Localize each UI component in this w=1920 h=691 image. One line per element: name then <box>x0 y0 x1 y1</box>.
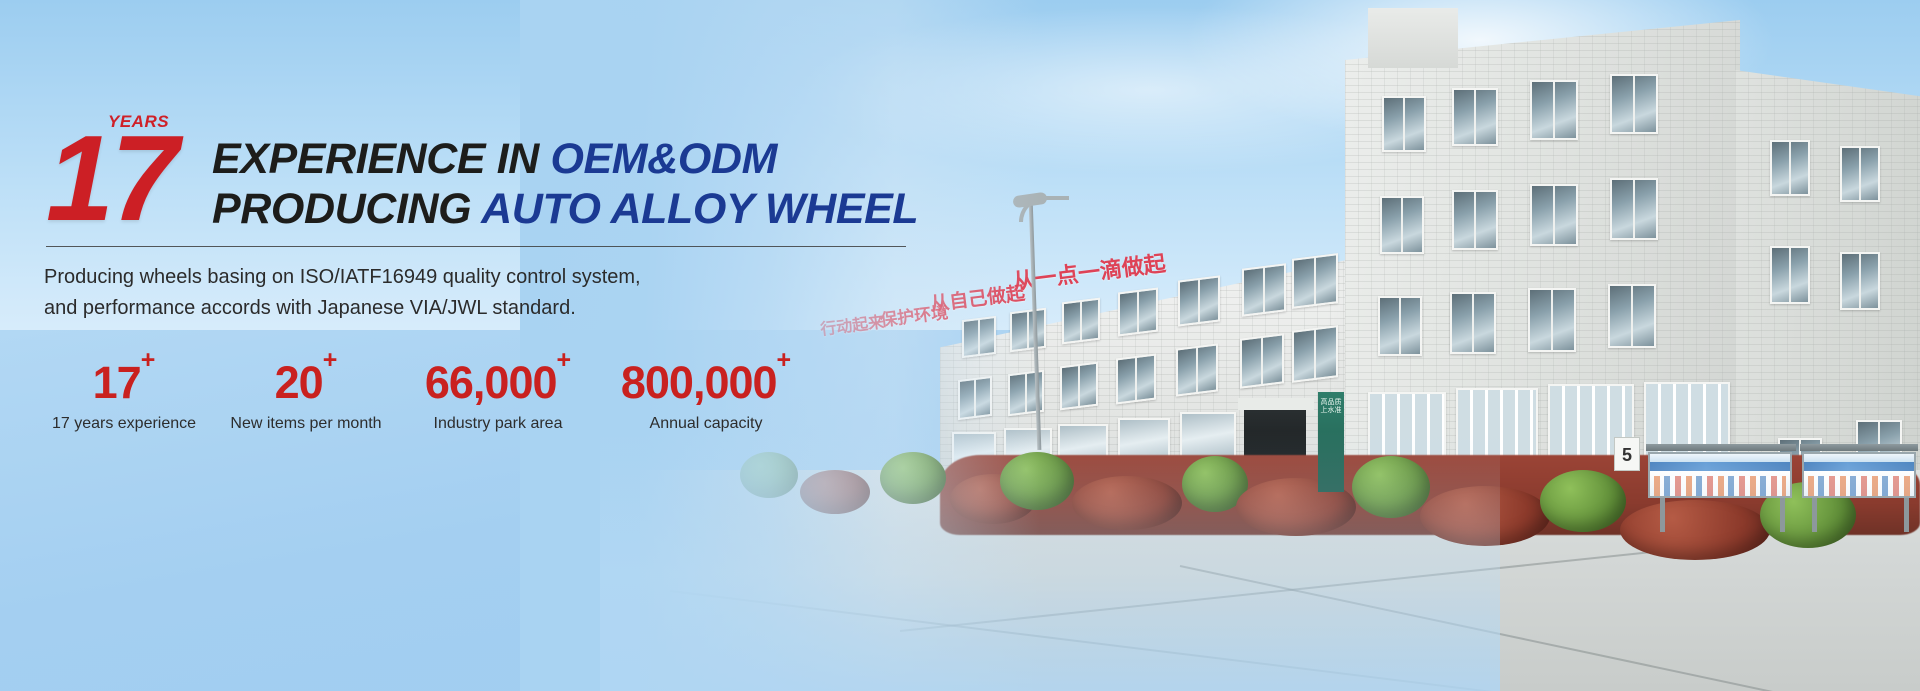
stat-value: 17+ <box>50 348 198 409</box>
window <box>1378 296 1422 356</box>
notice-board-leg <box>1904 498 1909 532</box>
stat-item: 66,000+ Industry park area <box>400 348 596 433</box>
window <box>1530 80 1578 140</box>
window <box>1380 196 1424 254</box>
notice-board-roof <box>1646 444 1796 451</box>
window <box>1062 298 1100 345</box>
window <box>1060 362 1098 411</box>
window <box>1242 263 1286 316</box>
stat-number: 20 <box>275 357 323 408</box>
window <box>1770 246 1810 304</box>
stat-number: 17 <box>93 357 141 408</box>
headline-line-2: PRODUCING AUTO ALLOY WHEEL <box>212 184 918 234</box>
stat-value: 66,000+ <box>414 348 582 409</box>
stat-number: 800,000 <box>621 357 777 408</box>
garage-lintel <box>1238 398 1314 410</box>
stat-suffix: + <box>141 346 156 374</box>
bush <box>1620 500 1770 560</box>
notice-board-roof <box>1800 444 1918 451</box>
window <box>1240 333 1284 388</box>
big-number: 17 <box>46 122 196 234</box>
window <box>1608 284 1656 348</box>
window <box>1450 292 1496 354</box>
stat-label: Industry park area <box>414 415 582 433</box>
headline-divider <box>46 246 906 247</box>
notice-board-leg <box>1812 498 1817 532</box>
window <box>1528 288 1576 352</box>
stat-number: 66,000 <box>425 357 557 408</box>
stat-label: Annual capacity <box>610 415 802 433</box>
description-paragraph: Producing wheels basing on ISO/IATF16949… <box>44 262 641 324</box>
notice-board-content <box>1808 476 1910 496</box>
window <box>1118 288 1158 337</box>
window <box>1610 178 1658 240</box>
stat-label: New items per month <box>226 415 386 433</box>
stat-suffix: + <box>557 346 572 374</box>
stat-item: 20+ New items per month <box>212 348 400 433</box>
notice-board <box>1648 452 1792 498</box>
stat-suffix: + <box>777 346 792 374</box>
headline-line-1-blue: OEM&ODM <box>550 135 777 183</box>
window <box>1382 96 1426 152</box>
bush <box>1540 470 1626 532</box>
notice-board <box>1802 452 1916 498</box>
company-intro-banner: 行动起来 保护环境 从自己做起 从一点一滴做起 高品质 上水准 <box>0 0 1920 691</box>
headline-line-1: EXPERIENCE IN OEM&ODM <box>212 134 918 184</box>
window <box>1610 74 1658 134</box>
window <box>1116 354 1156 405</box>
stat-suffix: + <box>323 346 338 374</box>
stat-value: 800,000+ <box>610 348 802 409</box>
notice-board-header <box>1804 462 1914 471</box>
headline-line-2-dark: PRODUCING <box>212 185 481 233</box>
window <box>1292 325 1338 383</box>
window <box>1770 140 1810 196</box>
headline-line-2-blue: AUTO ALLOY WHEEL <box>481 185 918 233</box>
notice-board-leg <box>1660 498 1665 532</box>
stat-item: 17+ 17 years experience <box>36 348 212 433</box>
headline-block: YEARS 17 EXPERIENCE IN OEM&ODM PRODUCING… <box>46 108 918 234</box>
window <box>1292 253 1338 309</box>
window <box>1176 343 1218 396</box>
window <box>1840 146 1880 202</box>
years-number-block: YEARS 17 <box>46 108 196 234</box>
window <box>1178 275 1220 326</box>
window <box>1530 184 1578 246</box>
notice-board-content <box>1654 476 1786 496</box>
door-number-plate: 5 <box>1614 437 1640 471</box>
stat-label: 17 years experience <box>50 415 198 433</box>
years-badge: YEARS <box>108 112 169 132</box>
stat-item: 800,000+ Annual capacity <box>596 348 816 433</box>
headline-lines: EXPERIENCE IN OEM&ODM PRODUCING AUTO ALL… <box>212 134 918 234</box>
stat-value: 20+ <box>226 348 386 409</box>
stats-row: 17+ 17 years experience 20+ New items pe… <box>36 348 816 433</box>
window <box>1452 88 1498 146</box>
window <box>1452 190 1498 250</box>
roof-penthouse <box>1368 8 1458 68</box>
headline-line-1-dark: EXPERIENCE IN <box>212 135 550 183</box>
description-line-2: and performance accords with Japanese VI… <box>44 293 641 324</box>
banner-content: YEARS 17 EXPERIENCE IN OEM&ODM PRODUCING… <box>0 0 980 691</box>
description-line-1: Producing wheels basing on ISO/IATF16949… <box>44 262 641 293</box>
notice-board-leg <box>1780 498 1785 532</box>
notice-board-header <box>1650 462 1790 471</box>
window <box>1840 252 1880 310</box>
